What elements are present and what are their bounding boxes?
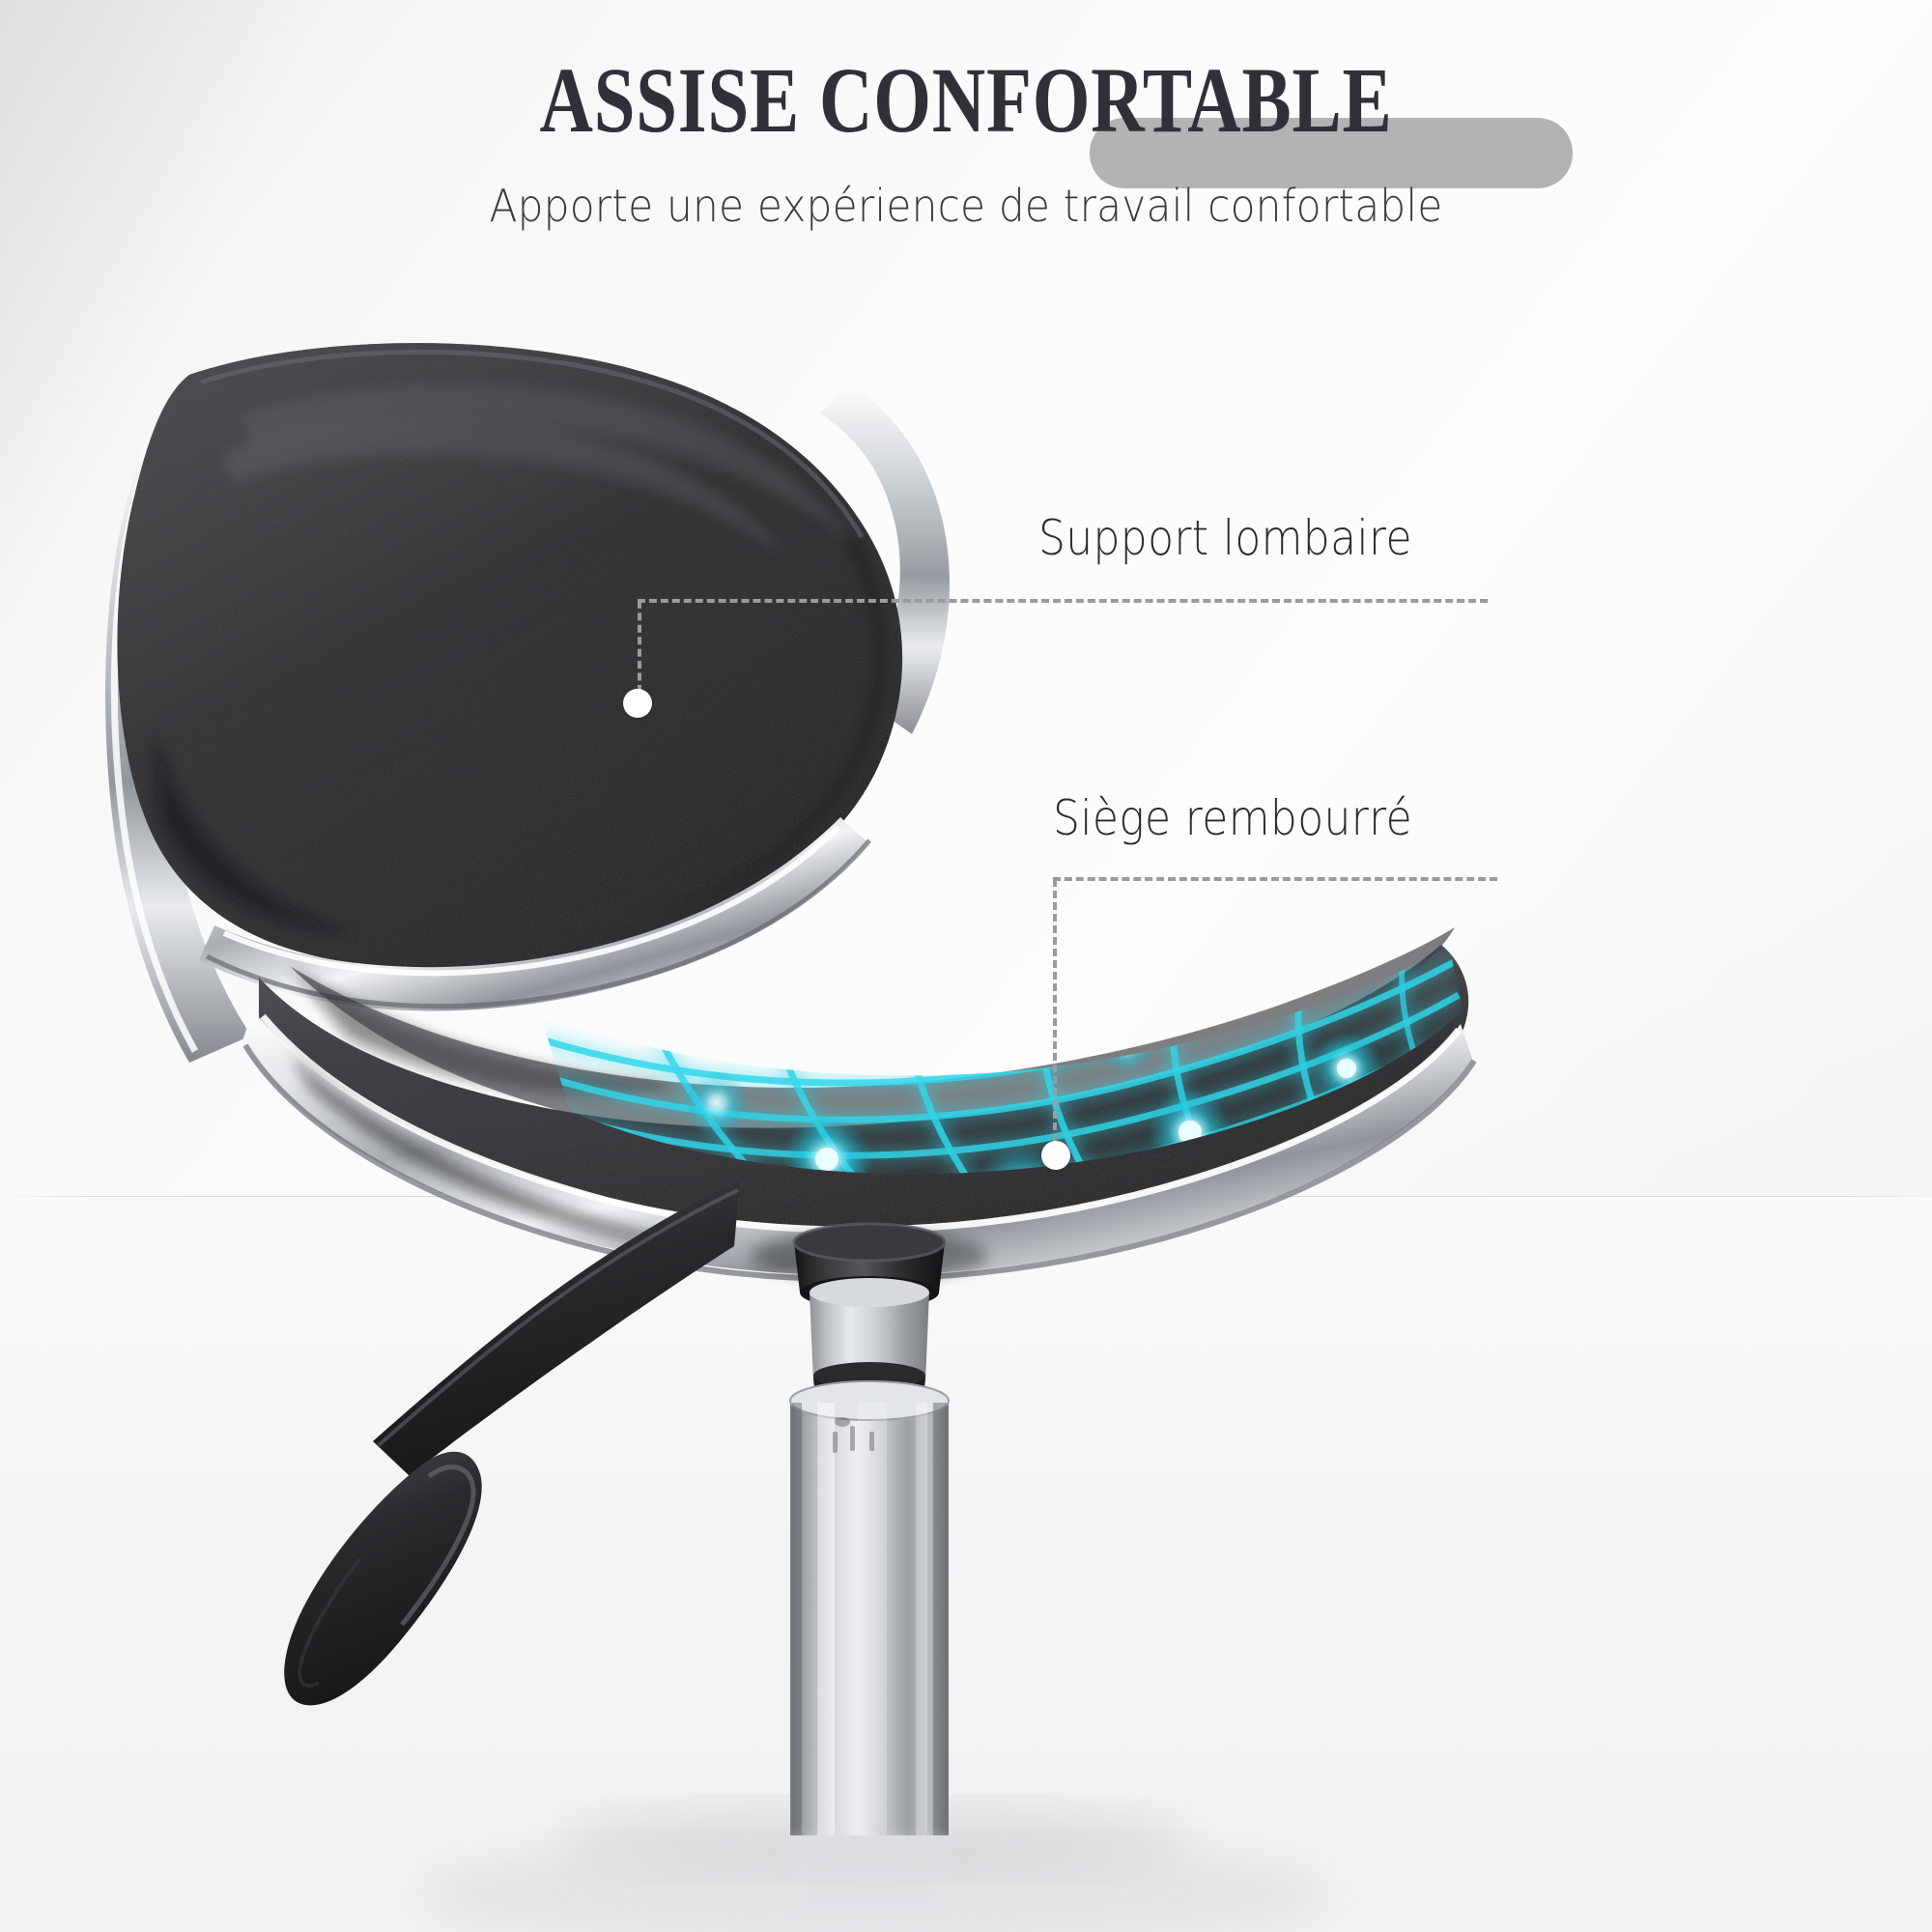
callout-label-lumbar-support: Support lombaire [1038,510,1412,566]
leader-line-horizontal-seat [1053,877,1497,881]
leader-line-vertical-seat [1053,879,1057,1142]
gas-lift-column [752,1224,987,1835]
height-adjust-lever [284,1180,740,1705]
callout-dot-seat [1041,1141,1070,1170]
leader-line-vertical-lumbar [638,601,641,693]
callout-dot-lumbar [623,689,652,718]
chair-backrest [105,343,950,1063]
callout-label-padded-seat: Siège rembourré [1053,790,1412,846]
leader-line-horizontal-lumbar [638,599,1488,603]
infographic-canvas: ASSISE CONFORTABLE Apporte une expérienc… [0,0,1932,1932]
product-photo-chair [0,0,1932,1932]
